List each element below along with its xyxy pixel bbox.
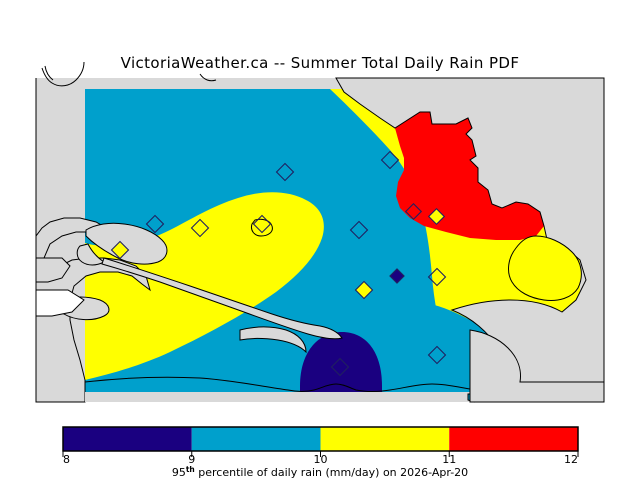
weather-map-page: VictoriaWeather.ca -- Summer Total Daily… <box>0 0 640 480</box>
colorbar-band-yellow[interactable] <box>321 427 450 451</box>
colorbar-label-10: 10 <box>314 453 328 466</box>
colorbar-band-red[interactable] <box>449 427 578 451</box>
colorbar-label-min: 8 <box>63 453 70 466</box>
colorbar-tick-labels: 8 9 10 11 12 <box>63 453 578 466</box>
colorbar-caption-rest: percentile of daily rain (mm/day) on 202… <box>195 466 468 479</box>
colorbar-figure: 8 9 10 11 12 95th percentile of daily ra… <box>0 0 640 480</box>
colorbar-caption: 95th percentile of daily rain (mm/day) o… <box>172 465 468 479</box>
colorbar-bands <box>63 427 578 451</box>
colorbar-band-navy[interactable] <box>63 427 192 451</box>
colorbar-label-11: 11 <box>442 453 456 466</box>
colorbar-label-max: 12 <box>564 453 578 466</box>
colorbar-caption-superscript: th <box>186 465 195 474</box>
colorbar-band-cyan[interactable] <box>192 427 321 451</box>
colorbar-caption-prefix: 95 <box>172 466 186 479</box>
